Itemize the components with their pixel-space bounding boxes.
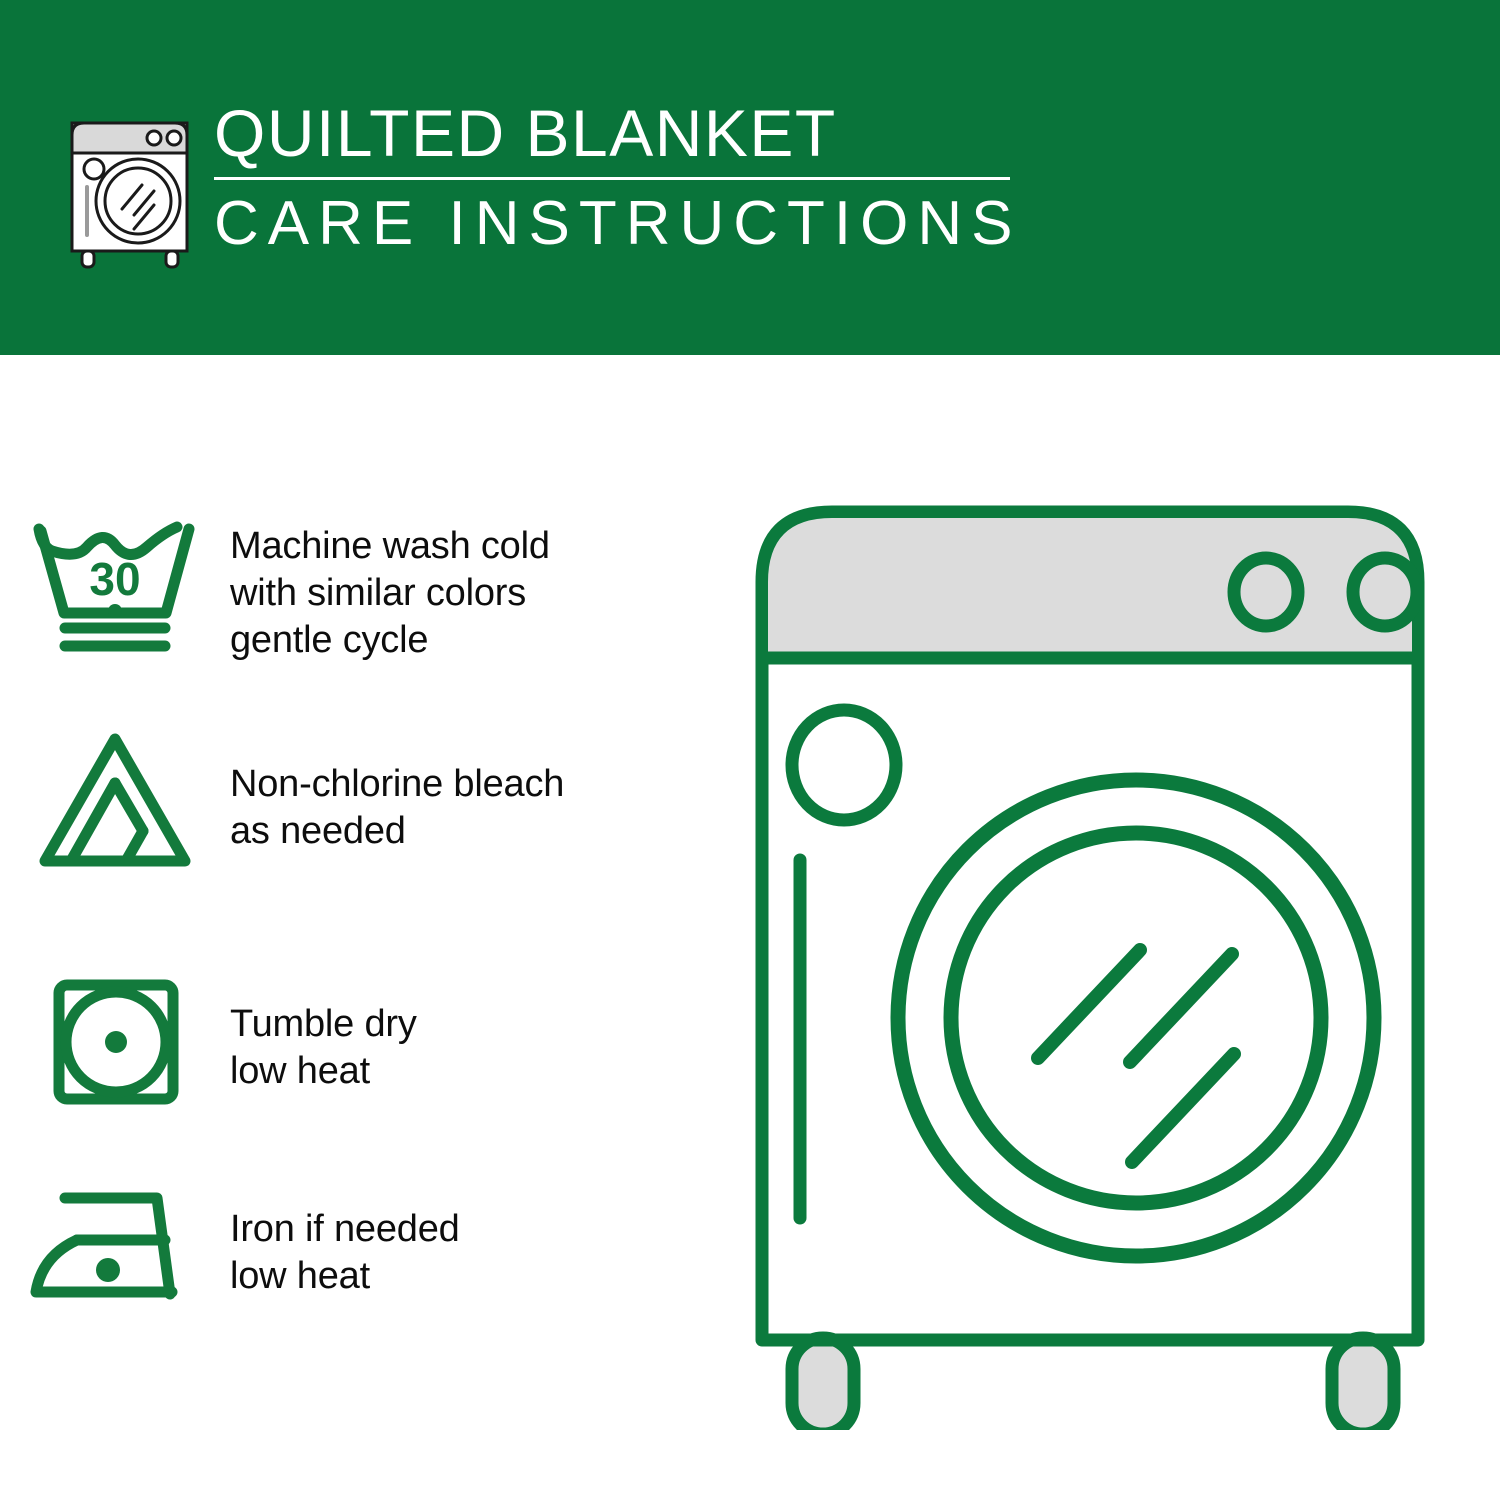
list-item: Iron if needed low heat — [0, 1180, 740, 1312]
label-line: as needed — [230, 808, 564, 855]
list-item-label: Tumble dry low heat — [230, 965, 417, 1095]
label-line: with similar colors — [230, 570, 550, 617]
label-line: Tumble dry — [230, 1001, 417, 1048]
iron-symbol — [0, 1180, 230, 1312]
care-instruction-list: 30 Machine wash cold with similar colors… — [0, 355, 740, 1500]
tumble-dry-symbol — [0, 965, 230, 1117]
care-instructions-page: QUILTED BLANKET CARE INSTRUCTIONS — [0, 0, 1500, 1500]
washing-machine-icon — [62, 105, 202, 270]
label-line: low heat — [230, 1048, 417, 1095]
label-line: Non-chlorine bleach — [230, 761, 564, 808]
label-line: Iron if needed — [230, 1206, 460, 1253]
label-line: Machine wash cold — [230, 523, 550, 570]
header-text-block: QUILTED BLANKET CARE INSTRUCTIONS — [214, 96, 1024, 259]
header-band: QUILTED BLANKET CARE INSTRUCTIONS — [0, 0, 1500, 355]
washing-machine-illustration — [740, 480, 1480, 1430]
wash-temperature-value: 30 — [89, 553, 140, 605]
title-divider — [214, 177, 1010, 180]
list-item: 30 Machine wash cold with similar colors… — [0, 505, 740, 664]
label-line: gentle cycle — [230, 617, 550, 664]
page-title: QUILTED BLANKET — [214, 96, 1024, 170]
bleach-triangle-symbol — [0, 725, 230, 877]
wash-tub-symbol: 30 — [0, 505, 230, 657]
list-item-label: Iron if needed low heat — [230, 1180, 460, 1300]
list-item: Tumble dry low heat — [0, 965, 740, 1117]
list-item-label: Machine wash cold with similar colors ge… — [230, 505, 550, 664]
label-line: low heat — [230, 1253, 460, 1300]
list-item: Non-chlorine bleach as needed — [0, 725, 740, 877]
list-item-label: Non-chlorine bleach as needed — [230, 725, 564, 855]
page-subtitle: CARE INSTRUCTIONS — [214, 189, 1024, 259]
